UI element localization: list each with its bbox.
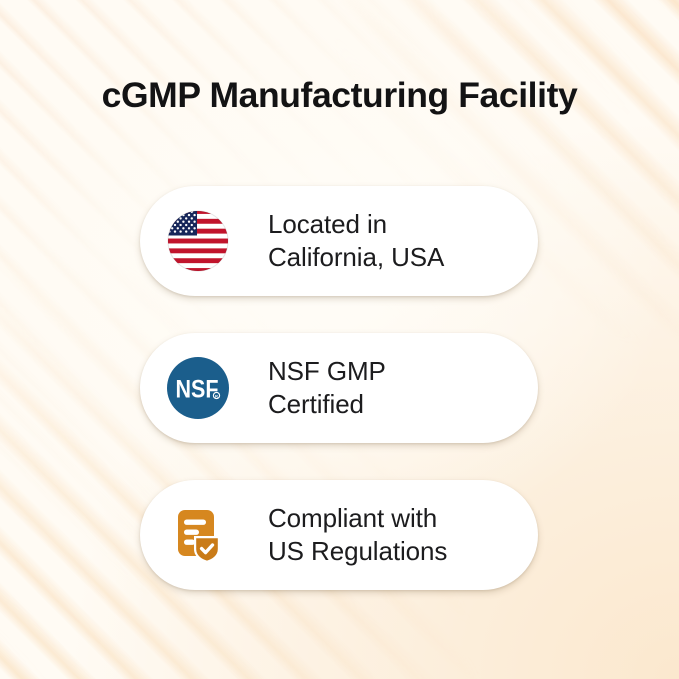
svg-text:R: R [215,393,218,398]
feature-card-label: NSF GMP Certified [268,355,386,421]
usa-flag-circle-icon [166,209,230,273]
cgmp-manufacturing-infographic: cGMP Manufacturing Facility [0,0,679,679]
content-layer: cGMP Manufacturing Facility [0,0,679,679]
feature-card-label: Located in California, USA [268,208,444,274]
feature-card-nsf: NSF R NSF GMP Certified [140,333,538,443]
nsf-certified-logo-icon: NSF R [166,356,230,420]
svg-text:NSF: NSF [176,375,219,403]
feature-card-compliance: Compliant with US Regulations [140,480,538,590]
feature-card-list: Located in California, USA NSF R NSF GMP… [140,186,538,590]
page-title: cGMP Manufacturing Facility [0,78,679,114]
feature-card-location: Located in California, USA [140,186,538,296]
document-shield-check-icon [166,503,230,567]
feature-card-label: Compliant with US Regulations [268,502,447,568]
